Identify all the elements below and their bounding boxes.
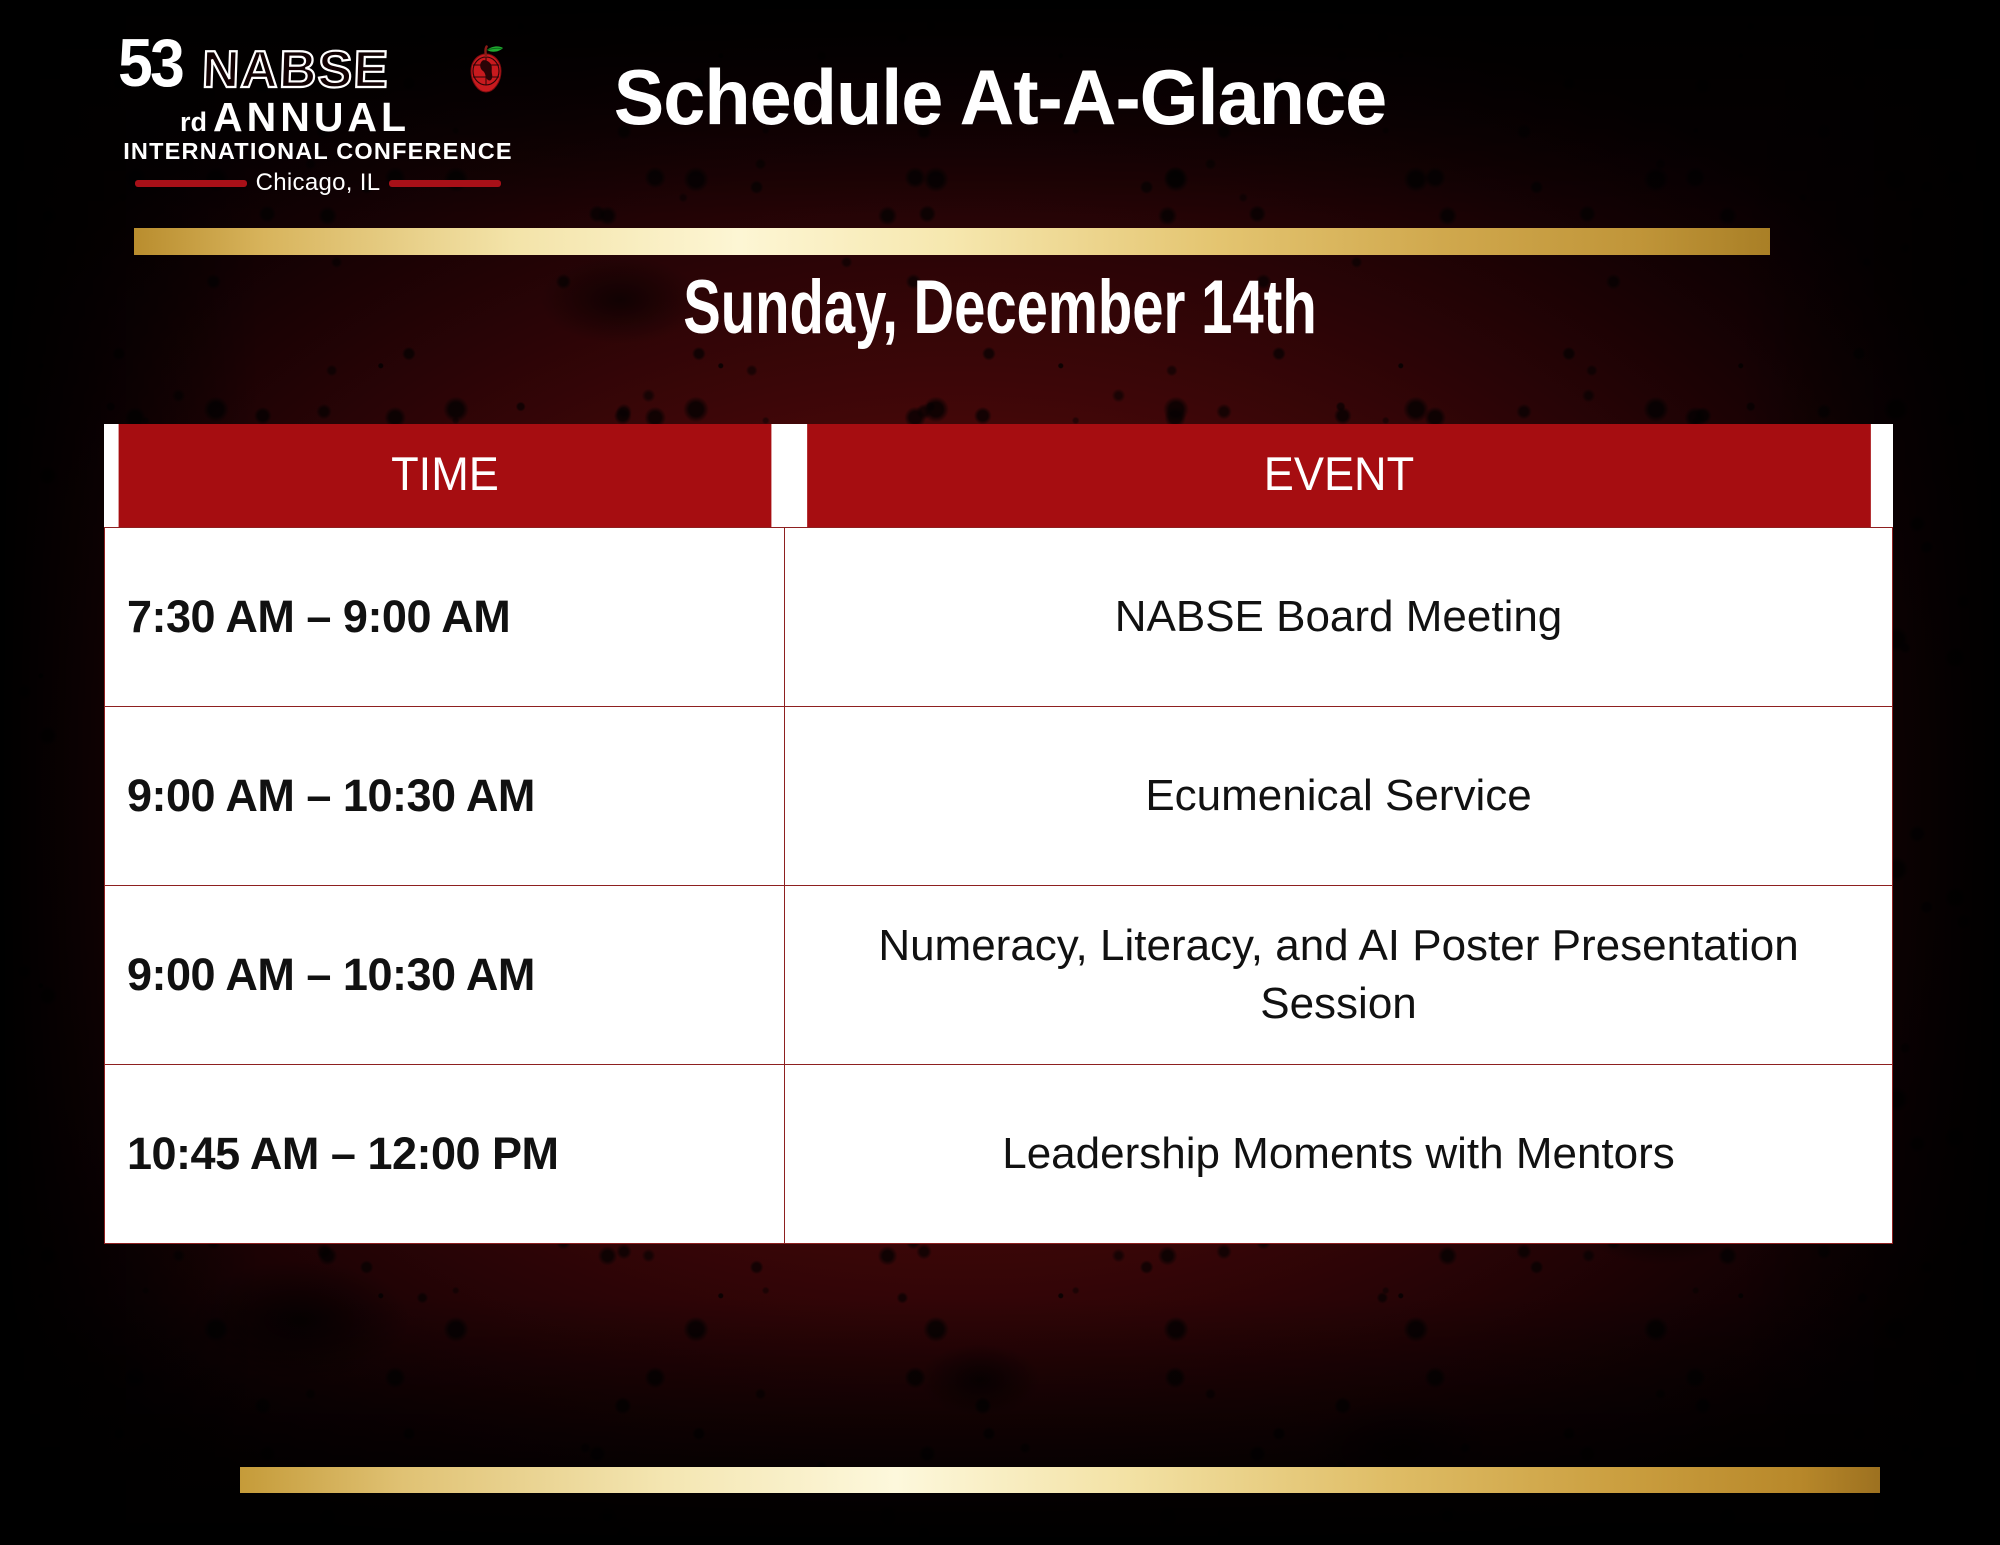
cell-event: NABSE Board Meeting [785, 528, 1893, 707]
cell-time: 9:00 AM – 10:30 AM [105, 886, 785, 1065]
table-row: 10:45 AM – 12:00 PM Leadership Moments w… [105, 1065, 1893, 1244]
table-row: 9:00 AM – 10:30 AM Ecumenical Service [105, 707, 1893, 886]
column-header-event: EVENT [807, 424, 1871, 528]
cell-event: Ecumenical Service [785, 707, 1893, 886]
schedule-date: Sunday, December 14th [260, 264, 1740, 351]
column-header-time: TIME [118, 424, 771, 528]
schedule-table-body: 7:30 AM – 9:00 AM NABSE Board Meeting 9:… [105, 528, 1893, 1244]
logo-rule-left [135, 180, 247, 187]
logo-city-label: Chicago, IL [256, 169, 381, 197]
gold-divider-bottom [240, 1467, 1880, 1493]
table-row: 9:00 AM – 10:30 AM Numeracy, Literacy, a… [105, 886, 1893, 1065]
logo-rule-right [389, 180, 501, 187]
cell-time: 7:30 AM – 9:00 AM [105, 528, 785, 707]
schedule-slide: 53 NABSE rd ANNUAL INTERNATIONAL CONFERE… [0, 0, 2000, 1545]
cell-event: Leadership Moments with Mentors [785, 1065, 1893, 1244]
schedule-table-wrapper: TIME EVENT 7:30 AM – 9:00 AM NABSE Board… [104, 424, 1893, 1244]
table-header-row: TIME EVENT [105, 424, 1893, 528]
cell-time: 9:00 AM – 10:30 AM [105, 707, 785, 886]
page-title: Schedule At-A-Glance [30, 52, 1970, 143]
table-row: 7:30 AM – 9:00 AM NABSE Board Meeting [105, 528, 1893, 707]
cell-time: 10:45 AM – 12:00 PM [105, 1065, 785, 1244]
schedule-table-head: TIME EVENT [105, 424, 1893, 528]
gold-divider-top [134, 228, 1770, 255]
cell-event: Numeracy, Literacy, and AI Poster Presen… [785, 886, 1893, 1065]
schedule-table: TIME EVENT 7:30 AM – 9:00 AM NABSE Board… [104, 424, 1893, 1244]
logo-city-row: Chicago, IL [118, 169, 518, 197]
